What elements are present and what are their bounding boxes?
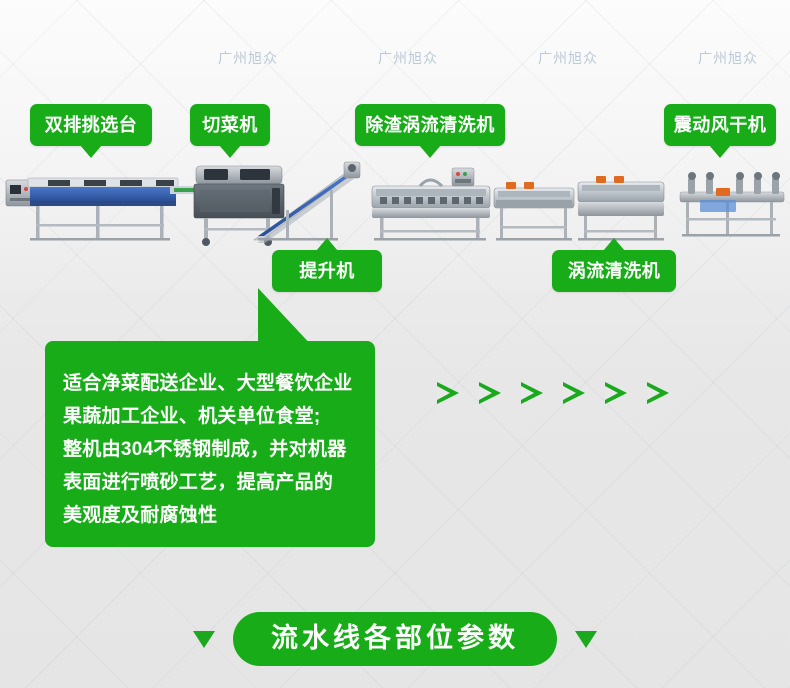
watermark-text: 广州旭众	[538, 48, 598, 68]
watermark-text: 广州旭众	[218, 48, 278, 68]
arrow-right-icon	[563, 382, 585, 404]
badge-double-row-sorting-table[interactable]: 双排挑选台	[30, 104, 152, 146]
badge-lifting-conveyor[interactable]: 提升机	[272, 250, 382, 292]
flow-arrows	[437, 382, 669, 404]
description-text: 适合净菜配送企业、大型餐饮企业 果蔬加工企业、机关单位食堂; 整机由304不锈钢…	[63, 367, 355, 532]
production-line-image	[0, 148, 790, 258]
description-callout: 适合净菜配送企业、大型餐饮企业 果蔬加工企业、机关单位食堂; 整机由304不锈钢…	[45, 341, 375, 547]
badge-vortex-washer[interactable]: 涡流清洗机	[552, 250, 676, 292]
badge-vegetable-cutter[interactable]: 切菜机	[190, 104, 270, 146]
section-title-bar: 流水线各部位参数	[0, 608, 790, 670]
watermark-text: 广州旭众	[378, 48, 438, 68]
section-title: 流水线各部位参数	[233, 612, 557, 665]
description-callout-tail	[258, 288, 314, 348]
arrow-right-icon	[521, 382, 543, 404]
arrow-right-icon	[479, 382, 501, 404]
badge-deslagging-vortex-washer[interactable]: 除渣涡流清洗机	[355, 104, 505, 146]
watermark-text: 广州旭众	[698, 48, 758, 68]
badge-vibrating-air-dryer[interactable]: 震动风干机	[664, 104, 776, 146]
arrow-right-icon	[647, 382, 669, 404]
product-banner-page: 广州旭众 广州旭众 广州旭众 广州旭众	[0, 0, 790, 688]
arrow-right-icon	[605, 382, 627, 404]
chevron-down-icon-left	[193, 631, 215, 648]
chevron-down-icon-right	[575, 631, 597, 648]
arrow-right-icon	[437, 382, 459, 404]
